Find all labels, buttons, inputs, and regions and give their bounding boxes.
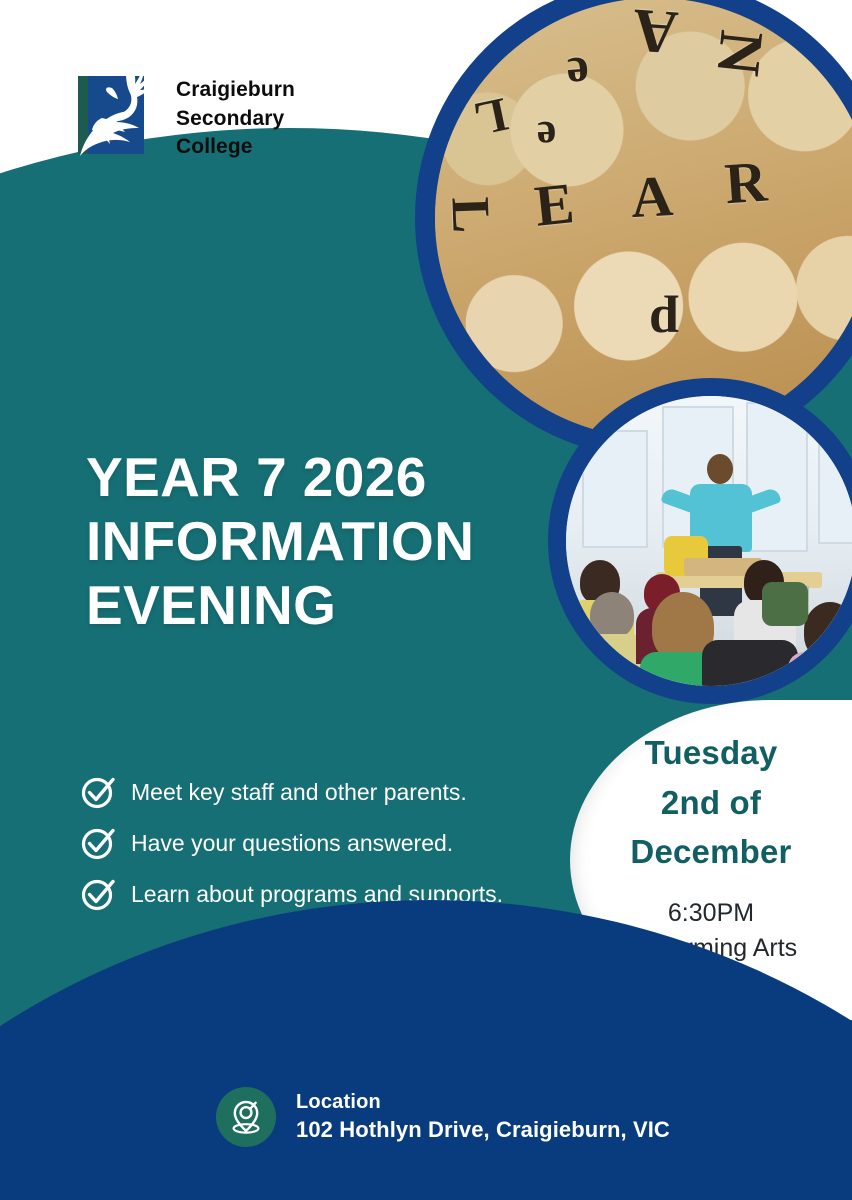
- school-name-line1: Craigieburn: [176, 76, 346, 105]
- logo-deer-glyph: [72, 60, 164, 164]
- event-date: 2nd of: [570, 778, 852, 828]
- school-name: Craigieburn Secondary College: [176, 76, 346, 162]
- event-month: December: [570, 827, 852, 877]
- location-pin-icon: [228, 1098, 264, 1136]
- location-label: Location: [296, 1090, 670, 1114]
- list-item-label: Have your questions answered.: [131, 832, 453, 855]
- school-logo: Craigieburn Secondary College: [78, 58, 338, 170]
- dice-letter: L: [443, 196, 498, 234]
- poster-root: A N e L E A R e L p: [0, 0, 852, 1200]
- check-circle-icon: [80, 876, 116, 912]
- page-title: YEAR 7 2026 INFORMATION EVENING: [86, 446, 536, 637]
- dice-letter: p: [649, 298, 679, 352]
- event-date-block: Tuesday 2nd of December: [570, 728, 852, 877]
- check-circle-icon: [80, 774, 116, 810]
- dice-letter: e: [565, 49, 591, 100]
- list-item: Meet key staff and other parents.: [80, 774, 550, 810]
- page-title-line3: EVENING: [86, 574, 536, 638]
- photo-letter-dice: A N e L E A R e L p: [415, 0, 852, 458]
- school-name-line2: Secondary: [176, 105, 346, 134]
- dice-letter: R: [723, 153, 769, 214]
- photo-classroom-image: [566, 396, 852, 686]
- event-day: Tuesday: [570, 728, 852, 778]
- dice-letter: A: [630, 167, 675, 227]
- dice-letter: E: [532, 174, 577, 236]
- page-title-line1: YEAR 7 2026: [86, 446, 536, 510]
- check-circle-icon: [80, 825, 116, 861]
- page-title-line2: INFORMATION: [86, 510, 536, 574]
- list-item: Have your questions answered.: [80, 825, 550, 861]
- dice-letter: N: [706, 27, 772, 78]
- location-block: Location 102 Hothlyn Drive, Craigieburn,…: [216, 1087, 670, 1147]
- location-pin-badge: [216, 1087, 276, 1147]
- deer-emblem-icon: [78, 76, 144, 154]
- dice-letter: L: [470, 89, 511, 143]
- list-item-label: Meet key staff and other parents.: [131, 781, 467, 804]
- photo-letter-dice-image: A N e L E A R e L p: [435, 0, 852, 438]
- location-address: 102 Hothlyn Drive, Craigieburn, VIC: [296, 1116, 670, 1144]
- dice-letter: A: [631, 0, 680, 63]
- location-text: Location 102 Hothlyn Drive, Craigieburn,…: [296, 1090, 670, 1144]
- photo-classroom: [548, 378, 852, 704]
- school-name-line3: College: [176, 133, 346, 162]
- dice-letter: e: [536, 114, 557, 159]
